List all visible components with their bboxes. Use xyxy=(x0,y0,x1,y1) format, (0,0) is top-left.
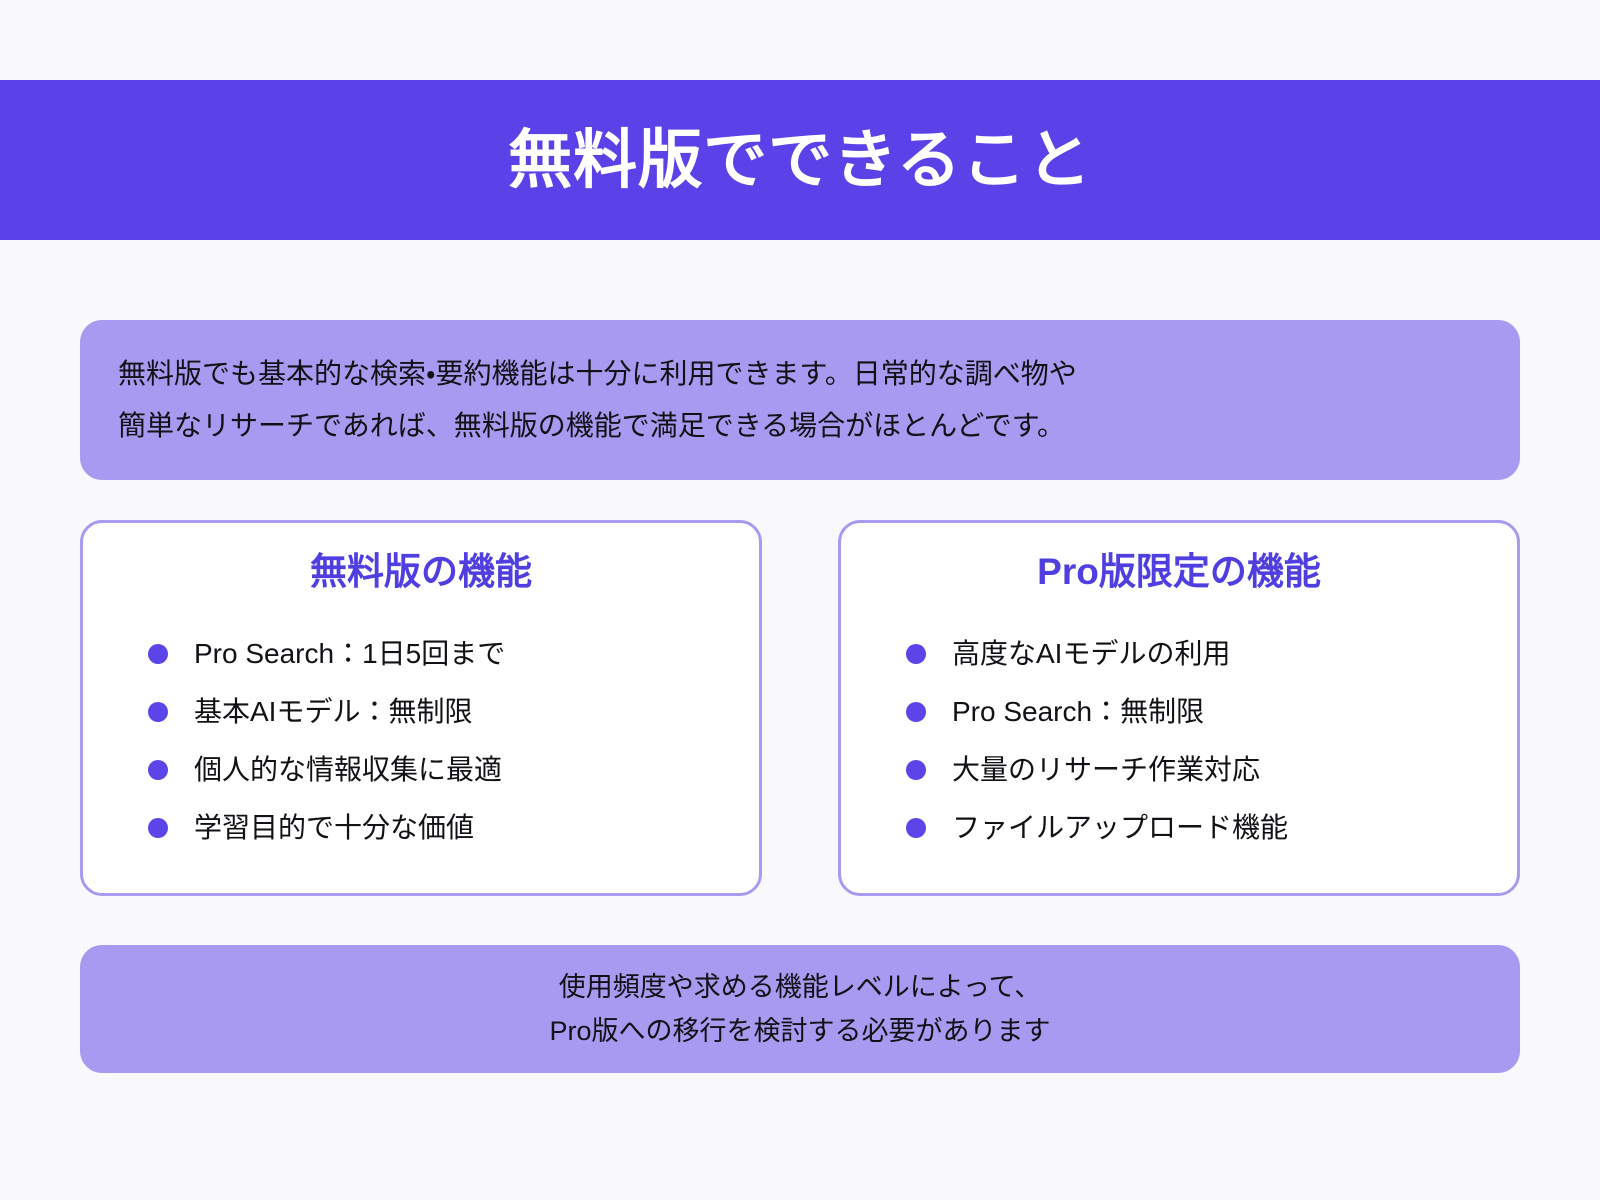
intro-line-1: 無料版でも基本的な検索・要約機能は十分に利用できます。日常的な調べ物や xyxy=(118,348,1482,400)
list-item-label: 高度なAIモデルの利用 xyxy=(952,637,1230,671)
list-item: 基本AIモデル：無制限 xyxy=(148,683,759,741)
bullet-dot-icon xyxy=(148,818,168,838)
intro-line-2: 簡単なリサーチであれば、無料版の機能で満足できる場合がほとんどです。 xyxy=(118,400,1482,452)
list-item: 大量のリサーチ作業対応 xyxy=(906,741,1517,799)
header-band: 無料版でできること xyxy=(0,80,1600,240)
list-item: Pro Search：無制限 xyxy=(906,683,1517,741)
list-item: 高度なAIモデルの利用 xyxy=(906,625,1517,683)
pro-plan-card-title: Pro版限定の機能 xyxy=(841,549,1517,595)
list-item: 学習目的で十分な価値 xyxy=(148,799,759,857)
free-plan-feature-list: Pro Search：1日5回まで 基本AIモデル：無制限 個人的な情報収集に最… xyxy=(83,625,759,857)
list-item-label: 大量のリサーチ作業対応 xyxy=(952,753,1260,787)
list-item: 個人的な情報収集に最適 xyxy=(148,741,759,799)
bullet-dot-icon xyxy=(906,644,926,664)
bullet-dot-icon xyxy=(906,702,926,722)
free-plan-card-title: 無料版の機能 xyxy=(83,549,759,595)
pro-plan-feature-list: 高度なAIモデルの利用 Pro Search：無制限 大量のリサーチ作業対応 フ… xyxy=(841,625,1517,857)
footer-callout: 使用頻度や求める機能レベルによって、 Pro版への移行を検討する必要があります xyxy=(80,945,1520,1073)
bullet-dot-icon xyxy=(148,644,168,664)
intro-callout: 無料版でも基本的な検索・要約機能は十分に利用できます。日常的な調べ物や 簡単なリ… xyxy=(80,320,1520,480)
feature-cards-row: 無料版の機能 Pro Search：1日5回まで 基本AIモデル：無制限 個人的… xyxy=(80,520,1520,896)
bullet-dot-icon xyxy=(148,702,168,722)
list-item-label: ファイルアップロード機能 xyxy=(952,811,1288,845)
bullet-dot-icon xyxy=(906,818,926,838)
list-item-label: Pro Search：1日5回まで xyxy=(194,637,505,671)
footer-line-2: Pro版への移行を検討する必要があります xyxy=(549,1009,1050,1053)
list-item-label: 個人的な情報収集に最適 xyxy=(194,753,502,787)
list-item-label: Pro Search：無制限 xyxy=(952,695,1204,729)
list-item-label: 基本AIモデル：無制限 xyxy=(194,695,472,729)
free-plan-card: 無料版の機能 Pro Search：1日5回まで 基本AIモデル：無制限 個人的… xyxy=(80,520,762,896)
bullet-dot-icon xyxy=(148,760,168,780)
pro-plan-card: Pro版限定の機能 高度なAIモデルの利用 Pro Search：無制限 大量の… xyxy=(838,520,1520,896)
list-item: ファイルアップロード機能 xyxy=(906,799,1517,857)
page-title: 無料版でできること xyxy=(508,125,1092,195)
list-item: Pro Search：1日5回まで xyxy=(148,625,759,683)
footer-line-1: 使用頻度や求める機能レベルによって、 xyxy=(559,965,1042,1009)
bullet-dot-icon xyxy=(906,760,926,780)
list-item-label: 学習目的で十分な価値 xyxy=(194,811,474,845)
